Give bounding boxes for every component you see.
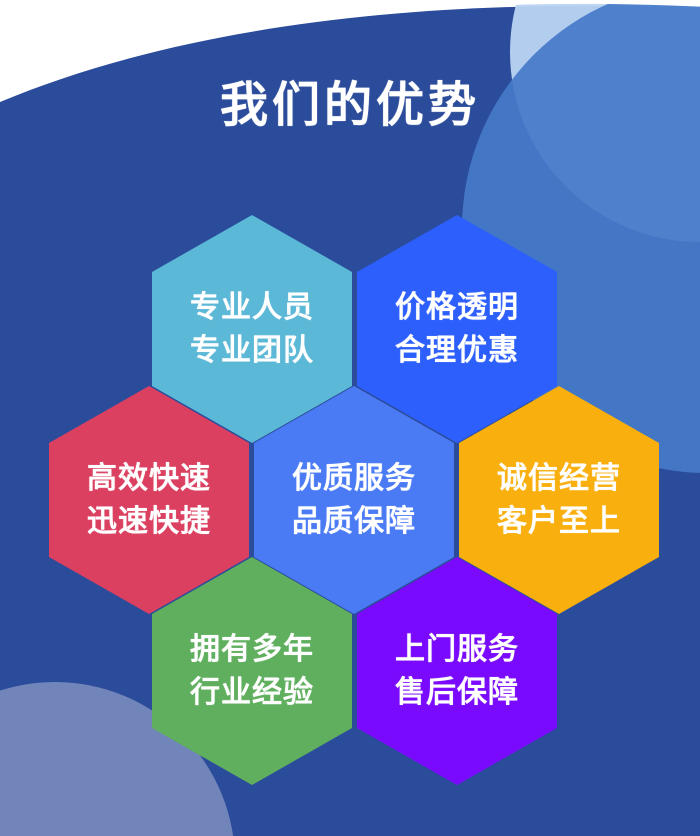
advantages-poster: 我们的优势 专业人员 专业团队 价格透明 合理优惠 高效快速 迅速快捷 优质服务… — [0, 0, 700, 836]
hex-line-2: 专业团队 — [190, 334, 314, 367]
hex-line-2: 品质保障 — [292, 505, 416, 538]
hex-line-2: 行业经验 — [190, 676, 314, 709]
hex-line-2: 售后保障 — [395, 676, 519, 709]
hex-line-2: 合理优惠 — [395, 334, 519, 367]
hex-line-1: 上门服务 — [395, 633, 519, 666]
hex-line-1: 高效快速 — [87, 462, 211, 495]
hex-line-2: 客户至上 — [497, 505, 621, 538]
page-title: 我们的优势 — [220, 78, 480, 133]
hex-line-1: 诚信经营 — [497, 462, 621, 495]
hex-line-2: 迅速快捷 — [87, 505, 211, 538]
hex-line-1: 专业人员 — [190, 291, 314, 324]
hex-line-1: 拥有多年 — [190, 633, 314, 666]
hex-line-1: 价格透明 — [395, 291, 519, 324]
hex-line-1: 优质服务 — [292, 462, 416, 495]
title-container: 我们的优势 — [0, 78, 700, 133]
